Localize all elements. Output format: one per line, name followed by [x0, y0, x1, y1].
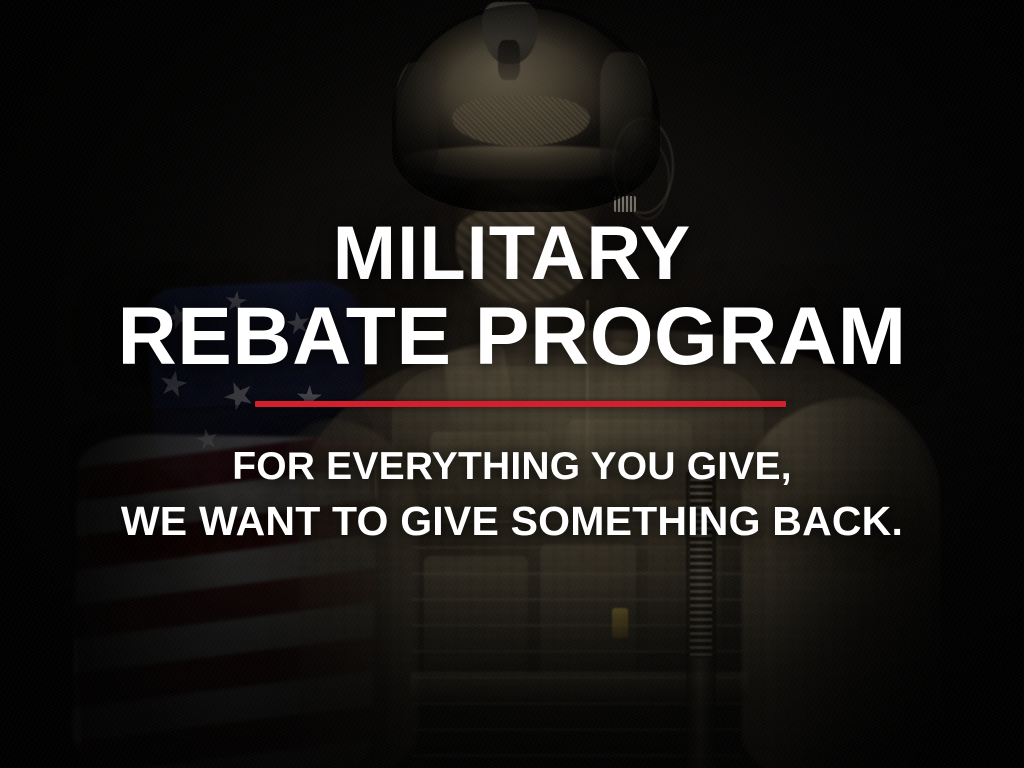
headline-line-1: MILITARY [0, 218, 1024, 291]
subheading-line-1: FOR EVERYTHING YOU GIVE, [0, 447, 1024, 486]
red-divider-rule [255, 401, 786, 407]
text-overlay: MILITARY REBATE PROGRAM FOR EVERYTHING Y… [0, 0, 1024, 768]
subheading-line-2: WE WANT TO GIVE SOMETHING BACK. [0, 501, 1024, 542]
promotional-banner: MILITARY REBATE PROGRAM FOR EVERYTHING Y… [0, 0, 1024, 768]
headline-line-2: REBATE PROGRAM [0, 298, 1024, 377]
